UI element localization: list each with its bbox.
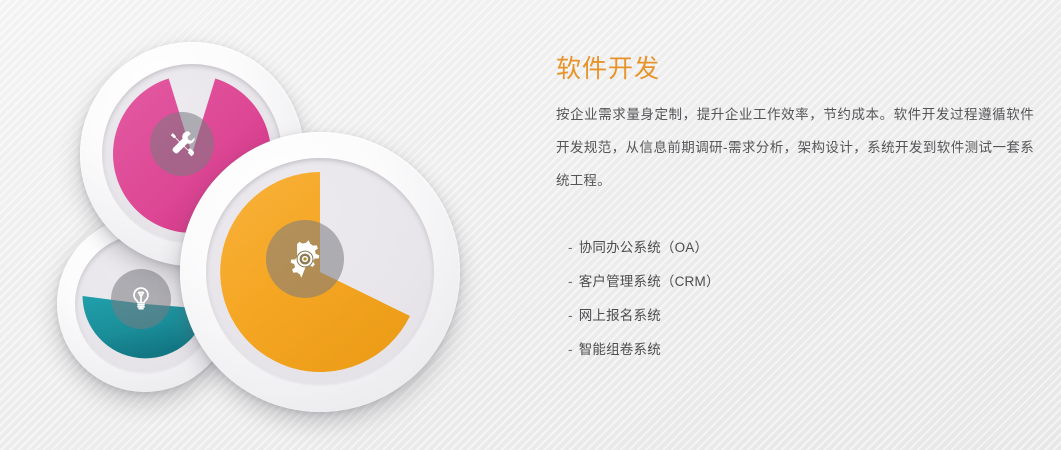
list-item-label: 协同办公系统（OA） — [579, 240, 709, 255]
list-item[interactable]: -智能组卷系统 — [556, 333, 1034, 367]
bullet-dash: - — [568, 274, 573, 289]
content-column: 软件开发 按企业需求量身定制，提升企业工作效率，节约成本。软件开发过程遵循软件开… — [556, 54, 1034, 367]
pink-disc-hub — [150, 112, 214, 176]
page-title: 软件开发 — [556, 54, 1034, 84]
feature-list: -协同办公系统（OA） -客户管理系统（CRM） -网上报名系统 -智能组卷系统 — [556, 231, 1034, 367]
list-item-label: 客户管理系统（CRM） — [579, 274, 720, 289]
list-item-label: 智能组卷系统 — [579, 342, 661, 357]
bullet-dash: - — [568, 342, 573, 357]
list-item-label: 网上报名系统 — [579, 308, 661, 323]
gear-icon — [283, 237, 327, 281]
wrench-screwdriver-icon — [165, 127, 199, 161]
description-paragraph: 按企业需求量身定制，提升企业工作效率，节约成本。软件开发过程遵循软件开发规范，从… — [556, 98, 1034, 197]
bullet-dash: - — [568, 240, 573, 255]
list-item[interactable]: -协同办公系统（OA） — [556, 231, 1034, 265]
orange-disc[interactable] — [180, 132, 460, 412]
list-item[interactable]: -网上报名系统 — [556, 299, 1034, 333]
list-item[interactable]: -客户管理系统（CRM） — [556, 265, 1034, 299]
lightbulb-icon — [127, 285, 155, 313]
bullet-dash: - — [568, 308, 573, 323]
teal-disc-hub — [111, 269, 171, 329]
orange-disc-hub — [266, 220, 344, 298]
